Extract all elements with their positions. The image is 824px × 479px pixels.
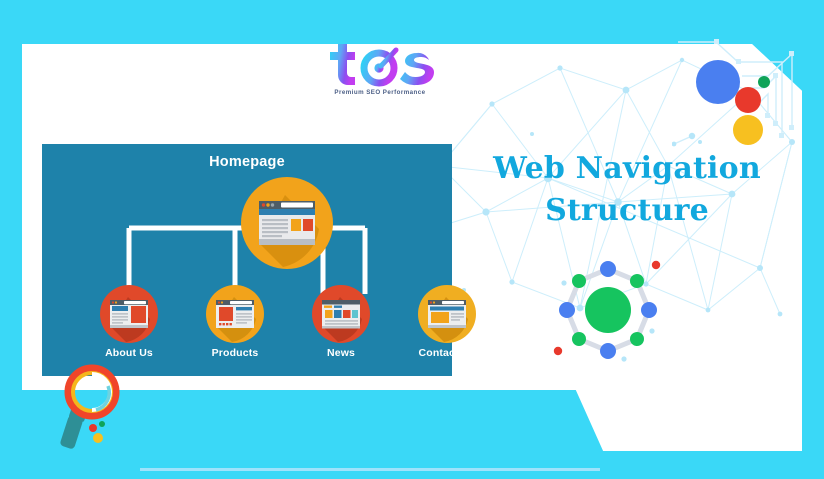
browser-window-icon (241, 177, 333, 269)
node-label-news: News (295, 347, 387, 359)
page-title: Web Navigation Structure (462, 148, 792, 232)
tree-node-contact-us[interactable]: Contact Us (401, 285, 493, 359)
page-title-line2: Structure (462, 190, 792, 232)
network-hub-graphic (552, 255, 664, 363)
node-circle-about-us (100, 285, 158, 343)
node-circle-contact-us (418, 285, 476, 343)
node-circle-products (206, 285, 264, 343)
browser-window-icon (312, 285, 370, 343)
brand-logo[interactable]: Premium SEO Performance (324, 42, 436, 100)
browser-window-icon (206, 285, 264, 343)
bottom-divider (140, 468, 600, 471)
node-label-products: Products (189, 347, 281, 359)
tree-node-about-us[interactable]: About Us (83, 285, 175, 359)
circuit-board-graphic (672, 32, 804, 152)
search-magnifier-icon (52, 362, 128, 450)
tree-node-homepage[interactable] (241, 177, 333, 269)
node-circle-news (312, 285, 370, 343)
node-label-contact-us: Contact Us (401, 347, 493, 359)
page-title-line1: Web Navigation (493, 151, 761, 186)
site-structure-diagram: Homepage (42, 144, 452, 376)
browser-window-icon (418, 285, 476, 343)
node-circle-homepage (241, 177, 333, 269)
tree-node-news[interactable]: News (295, 285, 387, 359)
logo-tagline: Premium SEO Performance (324, 89, 436, 96)
tree-node-products[interactable]: Products (189, 285, 281, 359)
logo-mark-icon (324, 42, 436, 88)
browser-window-icon (100, 285, 158, 343)
node-label-about-us: About Us (83, 347, 175, 359)
slide-canvas: Premium SEO Performance Web Navigation S… (0, 0, 824, 479)
